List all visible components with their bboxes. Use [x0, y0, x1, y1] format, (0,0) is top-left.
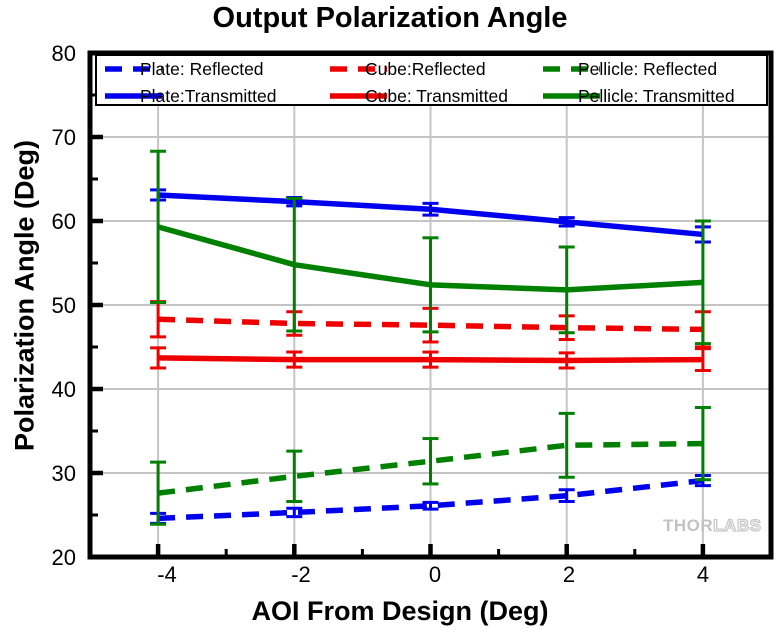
legend-label-plate-transmitted: Plate:Transmitted [140, 88, 277, 106]
watermark-labs: LABS [713, 516, 761, 535]
data-series-layer [150, 151, 711, 524]
watermark-thor: THOR [663, 516, 713, 535]
thorlabs-watermark: THORLABS [663, 516, 761, 536]
legend-label-pellicle-transmitted: Pellicle: Transmitted [578, 88, 735, 106]
legend-label-pellicle-reflected: Pellicle: Reflected [578, 61, 717, 79]
chart-figure: Output Polarization Angle Polarization A… [0, 0, 780, 641]
series-line [158, 358, 703, 361]
legend-label-cube-transmitted: Cube: Transmitted [365, 88, 508, 106]
legend-label-cube-reflected: Cube:Reflected [365, 61, 486, 79]
legend-label-plate-reflected: Plate: Reflected [140, 61, 264, 79]
